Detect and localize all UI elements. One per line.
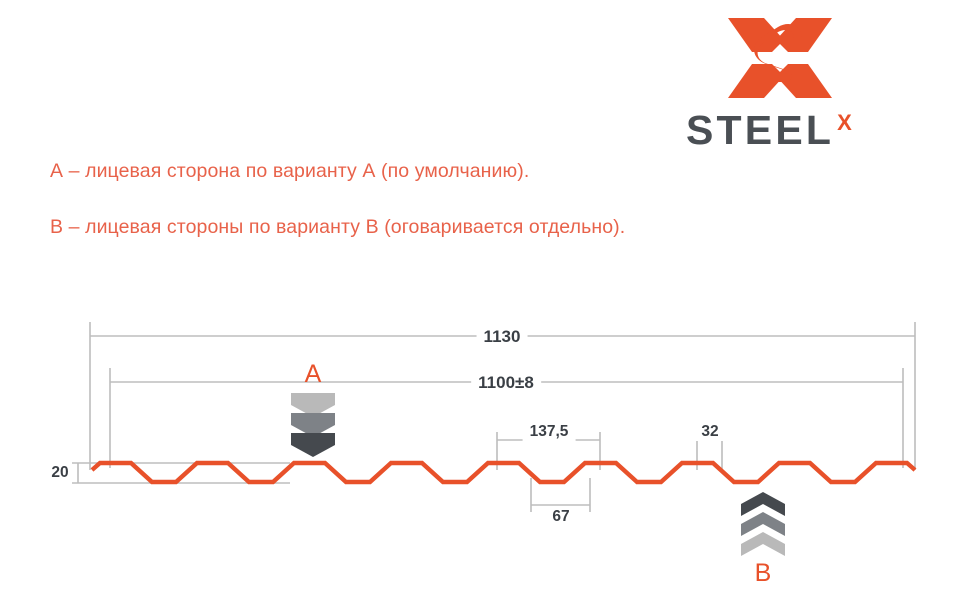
chevron-down-icon [287,387,339,461]
side-b-marker: В [737,490,789,586]
side-a-marker: А [287,362,339,466]
dim-label-32: 32 [694,423,725,441]
side-a-letter: А [287,362,339,387]
side-b-letter: В [737,561,789,586]
dim-label-1130: 1130 [477,327,528,347]
profile-drawing-page: STEELX А – лицевая сторона по варианту А… [0,0,970,597]
chevron-up-icon [737,490,789,556]
corrugated-profile-line [92,463,915,482]
dim-label-137-5: 137,5 [523,423,576,441]
dim-label-67: 67 [545,508,576,526]
technical-drawing [0,0,970,597]
dim-label-1100: 1100±8 [471,373,541,393]
dim-label-20: 20 [44,464,75,482]
